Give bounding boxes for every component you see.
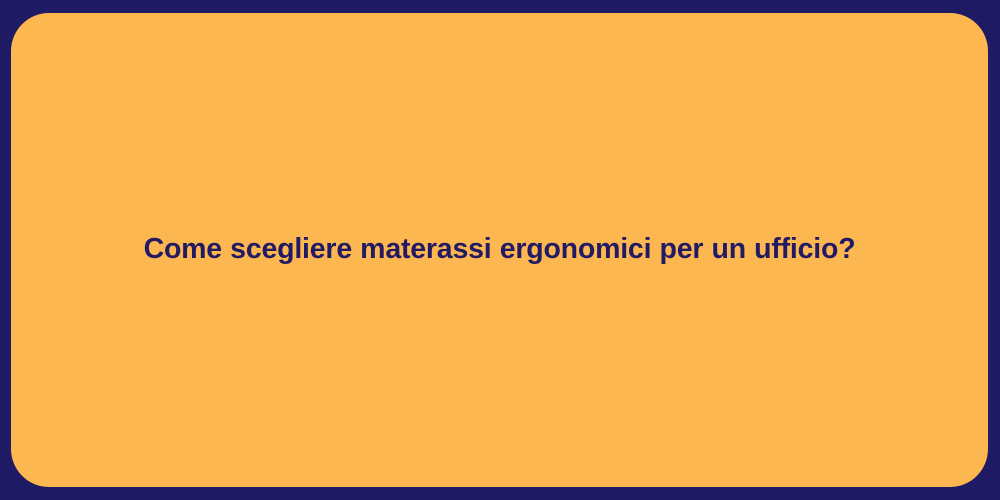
headline-title: Come scegliere materassi ergonomici per … [51,232,948,268]
orange-card-surface: Come scegliere materassi ergonomici per … [11,13,988,487]
headline-block: Come scegliere materassi ergonomici per … [11,232,988,268]
banner-root: Come scegliere materassi ergonomici per … [0,0,1000,500]
